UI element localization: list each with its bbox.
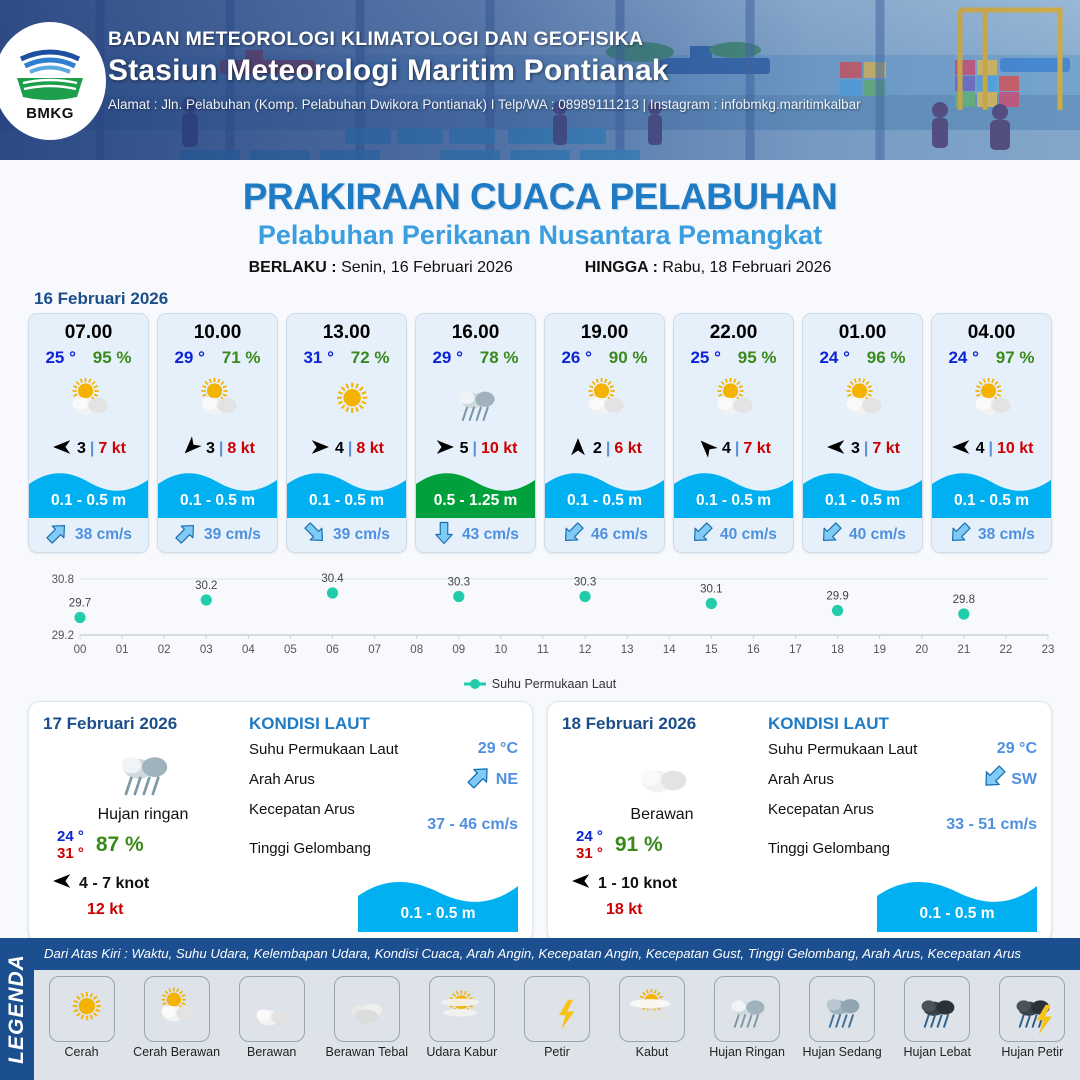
card-time: 19.00 — [545, 314, 664, 344]
card-gust: 7 kt — [743, 440, 771, 458]
legenda-item-label: Hujan Ringan — [709, 1045, 785, 1059]
card-wave: 0.5 - 1.25 m — [416, 466, 535, 518]
card-values: 29 ° 78 % — [416, 344, 535, 368]
card-wave-height: 0.1 - 0.5 m — [803, 492, 922, 510]
wind-separator: | — [348, 440, 352, 458]
card-wind-speed: 2 — [593, 440, 602, 458]
svg-text:23: 23 — [1042, 644, 1055, 656]
current-direction-arrow-icon — [466, 764, 492, 795]
hourly-cards: 07.00 25 ° 95 % 3 | 7 kt 0.1 - 0.5 m 38 … — [0, 313, 1080, 553]
card-current: 40 cm/s — [803, 518, 922, 552]
svg-text:00: 00 — [74, 644, 87, 656]
card-gust: 10 kt — [997, 440, 1033, 458]
daily-temp-max: 31 ° — [57, 845, 84, 862]
card-time: 10.00 — [158, 314, 277, 344]
legenda-item-label: Cerah Berawan — [133, 1045, 220, 1059]
wind-direction-arrow-icon — [434, 436, 456, 463]
current-direction-arrow-icon — [303, 521, 327, 550]
cerah-berawan-icon — [932, 370, 1051, 432]
wind-direction-arrow-icon — [696, 436, 718, 463]
legenda-item-label: Berawan Tebal — [326, 1045, 408, 1059]
hourly-card: 10.00 29 ° 71 % 3 | 8 kt 0.1 - 0.5 m 39 … — [157, 313, 278, 553]
daily-forecast-panel: 18 Februari 2026 Berawan 24 ° 31 ° 91 % … — [547, 701, 1052, 943]
legenda-section: LEGENDA Dari Atas Kiri : Waktu, Suhu Uda… — [0, 938, 1080, 1080]
daily-temp-max: 31 ° — [576, 845, 603, 862]
sea-conditions-title: KONDISI LAUT — [768, 714, 1037, 734]
current-direction-label: Arah Arus — [249, 771, 315, 788]
wave-height-row: Tinggi Gelombang — [249, 840, 518, 857]
daily-temps: 24 ° 31 ° — [57, 828, 84, 862]
sst-value: 29 °C — [478, 740, 518, 758]
card-wind: 3 | 7 kt — [803, 434, 922, 464]
cerah-icon — [49, 976, 115, 1042]
current-speed-value-row: 33 - 51 cm/s — [768, 816, 1037, 834]
current-direction-arrow-icon — [981, 764, 1007, 795]
chart-legend: Suhu Permukaan Laut — [0, 677, 1080, 691]
svg-text:16: 16 — [747, 644, 760, 656]
hourly-card: 01.00 24 ° 96 % 3 | 7 kt 0.1 - 0.5 m 40 … — [802, 313, 923, 553]
card-gust: 8 kt — [227, 440, 255, 458]
card-wave-height: 0.5 - 1.25 m — [416, 492, 535, 510]
legenda-item: Udara Kabur — [416, 976, 508, 1059]
svg-text:29.7: 29.7 — [69, 598, 91, 610]
card-wind: 4 | 7 kt — [674, 434, 793, 464]
current-speed-value: 33 - 51 cm/s — [946, 816, 1037, 834]
wind-direction-arrow-icon — [567, 436, 589, 463]
hujan-ringan-icon — [416, 370, 535, 432]
valid-from-value: Senin, 16 Februari 2026 — [341, 259, 513, 276]
current-direction-value-group: SW — [981, 764, 1037, 795]
sst-chart: 30.829.200010203040506070809101112131415… — [22, 567, 1058, 675]
current-speed-label: Kecepatan Arus — [249, 801, 355, 818]
card-wave-height: 0.1 - 0.5 m — [158, 492, 277, 510]
svg-text:14: 14 — [663, 644, 676, 656]
daily-wave-graphic: 0.1 - 0.5 m — [877, 870, 1037, 932]
card-wave: 0.1 - 0.5 m — [29, 466, 148, 518]
sst-row: Suhu Permukaan Laut 29 °C — [249, 740, 518, 758]
wind-direction-arrow-icon — [825, 436, 847, 463]
legenda-side-title: LEGENDA — [0, 938, 34, 1080]
daily-wave-height-value: 0.1 - 0.5 m — [877, 905, 1037, 923]
svg-text:06: 06 — [326, 644, 339, 656]
svg-text:30.3: 30.3 — [448, 577, 470, 589]
card-wave: 0.1 - 0.5 m — [803, 466, 922, 518]
card-temperature: 24 ° — [948, 348, 978, 368]
svg-text:29.8: 29.8 — [953, 594, 975, 606]
bmkg-logo-icon — [11, 41, 89, 103]
card-wind-speed: 3 — [77, 440, 86, 458]
daily-humidity: 87 % — [96, 833, 144, 857]
wind-direction-arrow-icon — [51, 870, 73, 897]
card-values: 31 ° 72 % — [287, 344, 406, 368]
wind-separator: | — [864, 440, 868, 458]
wind-direction-arrow-icon — [51, 436, 73, 463]
card-current: 46 cm/s — [545, 518, 664, 552]
daily-temps: 24 ° 31 ° — [576, 828, 603, 862]
cerah-berawan-icon — [803, 370, 922, 432]
card-temperature: 25 ° — [690, 348, 720, 368]
card-wave-height: 0.1 - 0.5 m — [545, 492, 664, 510]
card-wind-speed: 4 — [976, 440, 985, 458]
hourly-card: 22.00 25 ° 95 % 4 | 7 kt 0.1 - 0.5 m 40 … — [673, 313, 794, 553]
wind-direction-arrow-icon — [309, 436, 331, 463]
card-wave-height: 0.1 - 0.5 m — [674, 492, 793, 510]
card-wind-speed: 4 — [722, 440, 731, 458]
wave-height-label: Tinggi Gelombang — [249, 840, 371, 857]
card-time: 16.00 — [416, 314, 535, 344]
wave-height-label: Tinggi Gelombang — [768, 840, 890, 857]
card-values: 24 ° 96 % — [803, 344, 922, 368]
card-values: 25 ° 95 % — [674, 344, 793, 368]
daily-date: 18 Februari 2026 — [562, 714, 762, 734]
daily-panels: 17 Februari 2026 Hujan ringan 24 ° 31 ° … — [0, 691, 1080, 943]
cerah-berawan-icon — [545, 370, 664, 432]
card-humidity: 90 % — [609, 348, 648, 368]
svg-text:17: 17 — [789, 644, 802, 656]
card-time: 04.00 — [932, 314, 1051, 344]
card-humidity: 95 % — [93, 348, 132, 368]
current-direction-value: NE — [496, 771, 518, 789]
daily-temps-humidity: 24 ° 31 ° 87 % — [43, 828, 243, 862]
daily-forecast-panel: 17 Februari 2026 Hujan ringan 24 ° 31 ° … — [28, 701, 533, 943]
daily-wind-range: 1 - 10 knot — [598, 875, 677, 893]
valid-from: BERLAKU : Senin, 16 Februari 2026 — [249, 259, 513, 277]
berawan-icon — [562, 736, 762, 802]
card-current-speed: 39 cm/s — [333, 526, 390, 544]
daily-sea-conditions: KONDISI LAUT Suhu Permukaan Laut 29 °C A… — [762, 714, 1037, 930]
current-direction-row: Arah Arus SW — [768, 764, 1037, 795]
daily-temps-humidity: 24 ° 31 ° 91 % — [562, 828, 762, 862]
wind-separator: | — [219, 440, 223, 458]
svg-text:04: 04 — [242, 644, 255, 656]
legenda-item: Berawan — [226, 976, 318, 1059]
hourly-card: 04.00 24 ° 97 % 4 | 10 kt 0.1 - 0.5 m 38… — [931, 313, 1052, 553]
chart-legend-label: Suhu Permukaan Laut — [492, 677, 616, 691]
sst-row: Suhu Permukaan Laut 29 °C — [768, 740, 1037, 758]
station-address: Alamat : Jln. Pelabuhan (Komp. Pelabuhan… — [108, 97, 1058, 112]
validity-row: BERLAKU : Senin, 16 Februari 2026 HINGGA… — [0, 259, 1080, 277]
wave-height-row: Tinggi Gelombang — [768, 840, 1037, 857]
sst-chart-svg: 30.829.200010203040506070809101112131415… — [22, 567, 1058, 672]
daily-wind: 4 - 7 knot — [43, 870, 243, 897]
card-current: 40 cm/s — [674, 518, 793, 552]
svg-text:08: 08 — [410, 644, 423, 656]
valid-until: HINGGA : Rabu, 18 Februari 2026 — [585, 259, 832, 277]
current-direction-arrow-icon — [690, 521, 714, 550]
legenda-side-title-text: LEGENDA — [5, 954, 29, 1064]
card-time: 01.00 — [803, 314, 922, 344]
hujan-sedang-icon — [809, 976, 875, 1042]
card-current-speed: 38 cm/s — [75, 526, 132, 544]
sea-conditions-title: KONDISI LAUT — [249, 714, 518, 734]
sst-label: Suhu Permukaan Laut — [768, 741, 917, 758]
card-wave: 0.1 - 0.5 m — [545, 466, 664, 518]
card-current: 39 cm/s — [158, 518, 277, 552]
daily-humidity: 91 % — [615, 833, 663, 857]
card-current-speed: 39 cm/s — [204, 526, 261, 544]
current-direction-arrow-icon — [948, 521, 972, 550]
legenda-item: Berawan Tebal — [321, 976, 413, 1059]
current-direction-arrow-icon — [819, 521, 843, 550]
wind-separator: | — [606, 440, 610, 458]
card-current: 38 cm/s — [932, 518, 1051, 552]
card-wave: 0.1 - 0.5 m — [158, 466, 277, 518]
wind-direction-arrow-icon — [950, 436, 972, 463]
daily-left: 17 Februari 2026 Hujan ringan 24 ° 31 ° … — [43, 714, 243, 930]
hujan-petir-icon — [999, 976, 1065, 1042]
berawan-icon — [239, 976, 305, 1042]
legenda-item-label: Hujan Lebat — [904, 1045, 971, 1059]
card-humidity: 96 % — [867, 348, 906, 368]
daily-wave-height-value: 0.1 - 0.5 m — [358, 905, 518, 923]
valid-until-value: Rabu, 18 Februari 2026 — [662, 259, 831, 276]
header-text-block: BADAN METEOROLOGI KLIMATOLOGI DAN GEOFIS… — [108, 28, 1058, 112]
card-temperature: 24 ° — [819, 348, 849, 368]
svg-text:12: 12 — [579, 644, 592, 656]
legenda-item: Hujan Ringan — [701, 976, 793, 1059]
cerah-berawan-icon — [674, 370, 793, 432]
kabut-icon — [619, 976, 685, 1042]
hourly-card: 13.00 31 ° 72 % 4 | 8 kt 0.1 - 0.5 m 39 … — [286, 313, 407, 553]
legenda-item-label: Hujan Sedang — [803, 1045, 882, 1059]
sst-label: Suhu Permukaan Laut — [249, 741, 398, 758]
card-wave: 0.1 - 0.5 m — [674, 466, 793, 518]
cerah-berawan-icon — [144, 976, 210, 1042]
valid-until-label: HINGGA : — [585, 259, 658, 276]
daily-wave-graphic: 0.1 - 0.5 m — [358, 870, 518, 932]
card-time: 22.00 — [674, 314, 793, 344]
card-time: 07.00 — [29, 314, 148, 344]
current-direction-value-group: NE — [466, 764, 518, 795]
daily-sea-conditions: KONDISI LAUT Suhu Permukaan Laut 29 °C A… — [243, 714, 518, 930]
legenda-item: Cerah — [36, 976, 128, 1059]
card-time: 13.00 — [287, 314, 406, 344]
card-humidity: 72 % — [351, 348, 390, 368]
station-name: Stasiun Meteorologi Maritim Pontianak — [108, 54, 1058, 88]
svg-text:30.4: 30.4 — [321, 573, 344, 585]
daily-wind: 1 - 10 knot — [562, 870, 762, 897]
current-speed-label: Kecepatan Arus — [768, 801, 874, 818]
card-gust: 7 kt — [98, 440, 126, 458]
svg-text:02: 02 — [158, 644, 171, 656]
svg-text:03: 03 — [200, 644, 213, 656]
daily-gust: 18 kt — [562, 901, 762, 919]
card-humidity: 97 % — [996, 348, 1035, 368]
card-values: 26 ° 90 % — [545, 344, 664, 368]
legenda-item: Cerah Berawan — [131, 976, 223, 1059]
current-direction-arrow-icon — [561, 521, 585, 550]
svg-text:07: 07 — [368, 644, 381, 656]
card-wind-speed: 3 — [206, 440, 215, 458]
daily-gust: 12 kt — [43, 901, 243, 919]
legenda-item-label: Petir — [544, 1045, 570, 1059]
svg-text:01: 01 — [116, 644, 129, 656]
udara-kabur-icon — [429, 976, 495, 1042]
card-values: 24 ° 97 % — [932, 344, 1051, 368]
svg-text:20: 20 — [915, 644, 928, 656]
agency-name: BADAN METEOROLOGI KLIMATOLOGI DAN GEOFIS… — [108, 28, 1058, 51]
svg-text:30.3: 30.3 — [574, 577, 596, 589]
card-wind: 3 | 8 kt — [158, 434, 277, 464]
card-temperature: 25 ° — [45, 348, 75, 368]
daily-temp-min: 24 ° — [576, 828, 603, 845]
svg-text:11: 11 — [537, 644, 549, 656]
bmkg-logo-text: BMKG — [26, 105, 74, 122]
card-humidity: 71 % — [222, 348, 261, 368]
card-wind: 3 | 7 kt — [29, 434, 148, 464]
current-direction-arrow-icon — [174, 521, 198, 550]
svg-text:30.2: 30.2 — [195, 580, 217, 592]
svg-text:19: 19 — [873, 644, 886, 656]
card-wind: 2 | 6 kt — [545, 434, 664, 464]
page-subtitle: Pelabuhan Perikanan Nusantara Pemangkat — [0, 220, 1080, 251]
cerah-berawan-icon — [158, 370, 277, 432]
svg-text:10: 10 — [494, 644, 507, 656]
svg-text:30.8: 30.8 — [52, 574, 74, 586]
current-direction-row: Arah Arus NE — [249, 764, 518, 795]
card-current: 43 cm/s — [416, 518, 535, 552]
current-speed-value: 37 - 46 cm/s — [427, 816, 518, 834]
legenda-item: Petir — [511, 976, 603, 1059]
card-current: 39 cm/s — [287, 518, 406, 552]
card-wave: 0.1 - 0.5 m — [287, 466, 406, 518]
hourly-card: 07.00 25 ° 95 % 3 | 7 kt 0.1 - 0.5 m 38 … — [28, 313, 149, 553]
legenda-item: Hujan Lebat — [891, 976, 983, 1059]
legenda-item: Kabut — [606, 976, 698, 1059]
card-wave-height: 0.1 - 0.5 m — [287, 492, 406, 510]
hourly-card: 16.00 29 ° 78 % 5 | 10 kt 0.5 - 1.25 m 4… — [415, 313, 536, 553]
sst-value: 29 °C — [997, 740, 1037, 758]
card-wind: 5 | 10 kt — [416, 434, 535, 464]
svg-text:21: 21 — [957, 644, 970, 656]
hujan-lebat-icon — [904, 976, 970, 1042]
card-wind-speed: 5 — [460, 440, 469, 458]
svg-text:18: 18 — [831, 644, 844, 656]
card-values: 25 ° 95 % — [29, 344, 148, 368]
wind-separator: | — [472, 440, 476, 458]
card-gust: 10 kt — [481, 440, 517, 458]
card-wind: 4 | 10 kt — [932, 434, 1051, 464]
svg-text:29.9: 29.9 — [826, 591, 848, 603]
card-current-speed: 46 cm/s — [591, 526, 648, 544]
card-wave: 0.1 - 0.5 m — [932, 466, 1051, 518]
hourly-card: 19.00 26 ° 90 % 2 | 6 kt 0.1 - 0.5 m 46 … — [544, 313, 665, 553]
current-direction-label: Arah Arus — [768, 771, 834, 788]
wind-direction-arrow-icon — [180, 436, 202, 463]
card-temperature: 29 ° — [174, 348, 204, 368]
card-wave-height: 0.1 - 0.5 m — [29, 492, 148, 510]
chart-legend-marker-icon — [464, 678, 486, 690]
card-temperature: 26 ° — [561, 348, 591, 368]
current-speed-value-row: 37 - 46 cm/s — [249, 816, 518, 834]
card-wind: 4 | 8 kt — [287, 434, 406, 464]
forecast-day-label: 16 Februari 2026 — [34, 289, 1080, 309]
daily-condition: Berawan — [562, 806, 762, 824]
svg-text:29.2: 29.2 — [52, 630, 74, 642]
hujan-ringan-icon — [714, 976, 780, 1042]
card-current-speed: 43 cm/s — [462, 526, 519, 544]
current-direction-arrow-icon — [45, 521, 69, 550]
card-values: 29 ° 71 % — [158, 344, 277, 368]
svg-text:09: 09 — [452, 644, 465, 656]
svg-text:13: 13 — [621, 644, 634, 656]
daily-condition: Hujan ringan — [43, 806, 243, 824]
page-title: PRAKIRAAN CUACA PELABUHAN — [0, 176, 1080, 218]
wind-separator: | — [735, 440, 739, 458]
daily-date: 17 Februari 2026 — [43, 714, 243, 734]
wind-separator: | — [90, 440, 94, 458]
legenda-item: Hujan Petir — [986, 976, 1078, 1059]
svg-text:22: 22 — [1000, 644, 1013, 656]
card-current: 38 cm/s — [29, 518, 148, 552]
svg-text:30.1: 30.1 — [700, 584, 722, 596]
daily-temp-min: 24 ° — [57, 828, 84, 845]
card-temperature: 29 ° — [432, 348, 462, 368]
svg-text:15: 15 — [705, 644, 718, 656]
legenda-item-label: Udara Kabur — [426, 1045, 497, 1059]
svg-text:05: 05 — [284, 644, 297, 656]
card-wind-speed: 4 — [335, 440, 344, 458]
card-gust: 7 kt — [872, 440, 900, 458]
card-gust: 6 kt — [614, 440, 642, 458]
legenda-item-label: Berawan — [247, 1045, 296, 1059]
daily-left: 18 Februari 2026 Berawan 24 ° 31 ° 91 % … — [562, 714, 762, 930]
card-humidity: 78 % — [480, 348, 519, 368]
petir-icon — [524, 976, 590, 1042]
card-humidity: 95 % — [738, 348, 777, 368]
legenda-item: Hujan Sedang — [796, 976, 888, 1059]
current-direction-value: SW — [1011, 771, 1037, 789]
cerah-icon — [287, 370, 406, 432]
card-wave-height: 0.1 - 0.5 m — [932, 492, 1051, 510]
current-direction-arrow-icon — [432, 521, 456, 550]
card-current-speed: 38 cm/s — [978, 526, 1035, 544]
wind-separator: | — [988, 440, 992, 458]
wind-direction-arrow-icon — [570, 870, 592, 897]
page-header: BMKG BADAN METEOROLOGI KLIMATOLOGI DAN G… — [0, 0, 1080, 160]
valid-from-label: BERLAKU : — [249, 259, 337, 276]
daily-wind-range: 4 - 7 knot — [79, 875, 149, 893]
legenda-item-label: Kabut — [636, 1045, 669, 1059]
card-temperature: 31 ° — [303, 348, 333, 368]
cerah-berawan-icon — [29, 370, 148, 432]
card-current-speed: 40 cm/s — [720, 526, 777, 544]
card-wind-speed: 3 — [851, 440, 860, 458]
berawan-tebal-icon — [334, 976, 400, 1042]
legenda-items: Cerah Cerah Berawan Berawan Berawan Teba… — [34, 970, 1080, 1080]
legenda-item-label: Hujan Petir — [1001, 1045, 1063, 1059]
legenda-item-label: Cerah — [65, 1045, 99, 1059]
card-gust: 8 kt — [356, 440, 384, 458]
hujan-ringan-icon — [43, 736, 243, 802]
legenda-note: Dari Atas Kiri : Waktu, Suhu Udara, Kele… — [44, 946, 1072, 961]
card-current-speed: 40 cm/s — [849, 526, 906, 544]
